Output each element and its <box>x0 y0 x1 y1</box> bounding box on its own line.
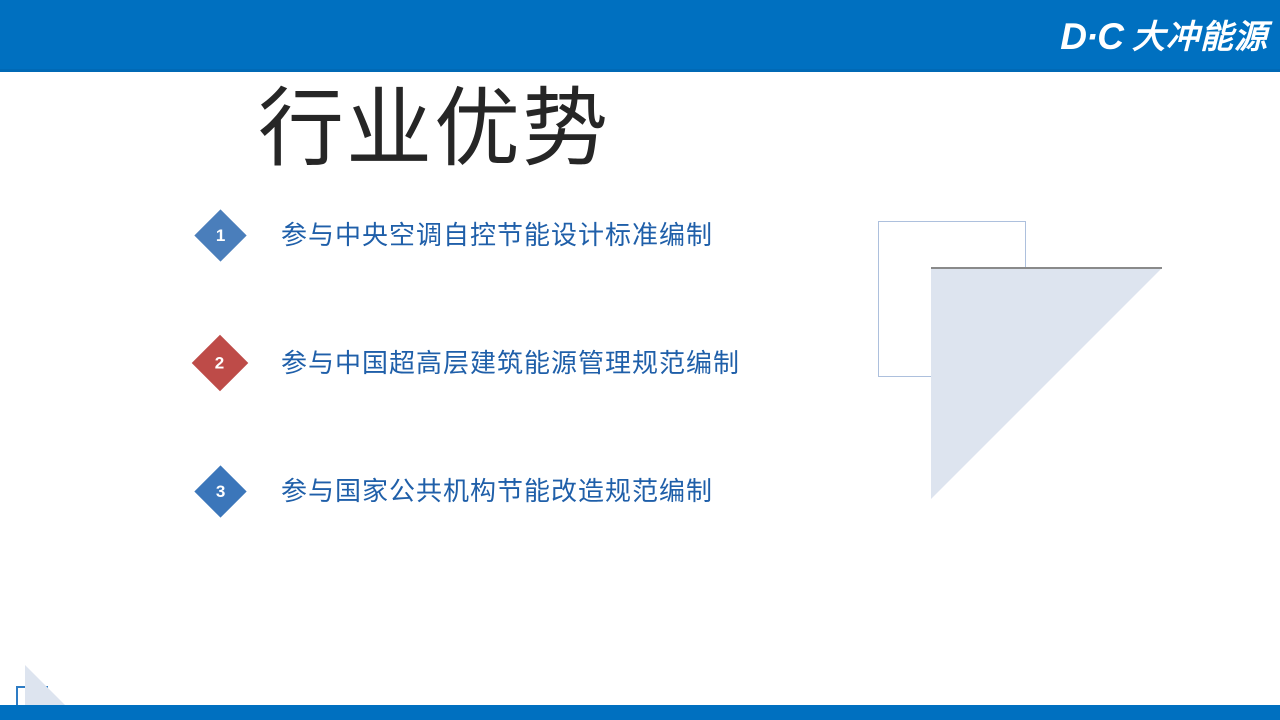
header-bar-shade <box>0 69 1280 72</box>
diamond-marker-2: 2 <box>192 335 249 392</box>
list-item[interactable]: 1 参与中央空调自控节能设计标准编制 <box>196 212 896 340</box>
list-item-label: 参与国家公共机构节能改造规范编制 <box>281 475 713 509</box>
diamond-marker-1: 1 <box>194 209 246 261</box>
logo-dc-mark: D·C <box>1060 18 1123 55</box>
advantage-list: 1 参与中央空调自控节能设计标准编制 2 参与中国超高层建筑能源管理规范编制 3… <box>196 212 896 596</box>
decorative-triangle-edge <box>931 267 1162 269</box>
diamond-number: 1 <box>216 227 225 244</box>
diamond-number: 3 <box>216 483 225 500</box>
page-title: 行业优势 <box>258 86 610 172</box>
list-item-label: 参与中国超高层建筑能源管理规范编制 <box>281 347 740 381</box>
decorative-triangle <box>931 268 1162 499</box>
decorative-corner-triangle <box>25 665 65 705</box>
logo-company-name: 大冲能源 <box>1132 20 1268 53</box>
decorative-motif-right <box>860 200 1180 520</box>
list-item[interactable]: 3 参与国家公共机构节能改造规范编制 <box>196 468 896 596</box>
diamond-marker-3: 3 <box>194 465 246 517</box>
diamond-number: 2 <box>215 355 224 372</box>
slide-canvas: D·C 大冲能源 行业优势 1 参与中央空调自控节能设计标准编制 2 参与中国超… <box>0 0 1280 720</box>
footer-bar <box>0 705 1280 720</box>
header-bar: D·C 大冲能源 <box>0 0 1280 72</box>
decorative-triangle-group <box>860 200 1180 520</box>
company-logo: D·C 大冲能源 <box>1060 14 1268 58</box>
list-item-label: 参与中央空调自控节能设计标准编制 <box>281 219 713 253</box>
list-item[interactable]: 2 参与中国超高层建筑能源管理规范编制 <box>196 340 896 468</box>
